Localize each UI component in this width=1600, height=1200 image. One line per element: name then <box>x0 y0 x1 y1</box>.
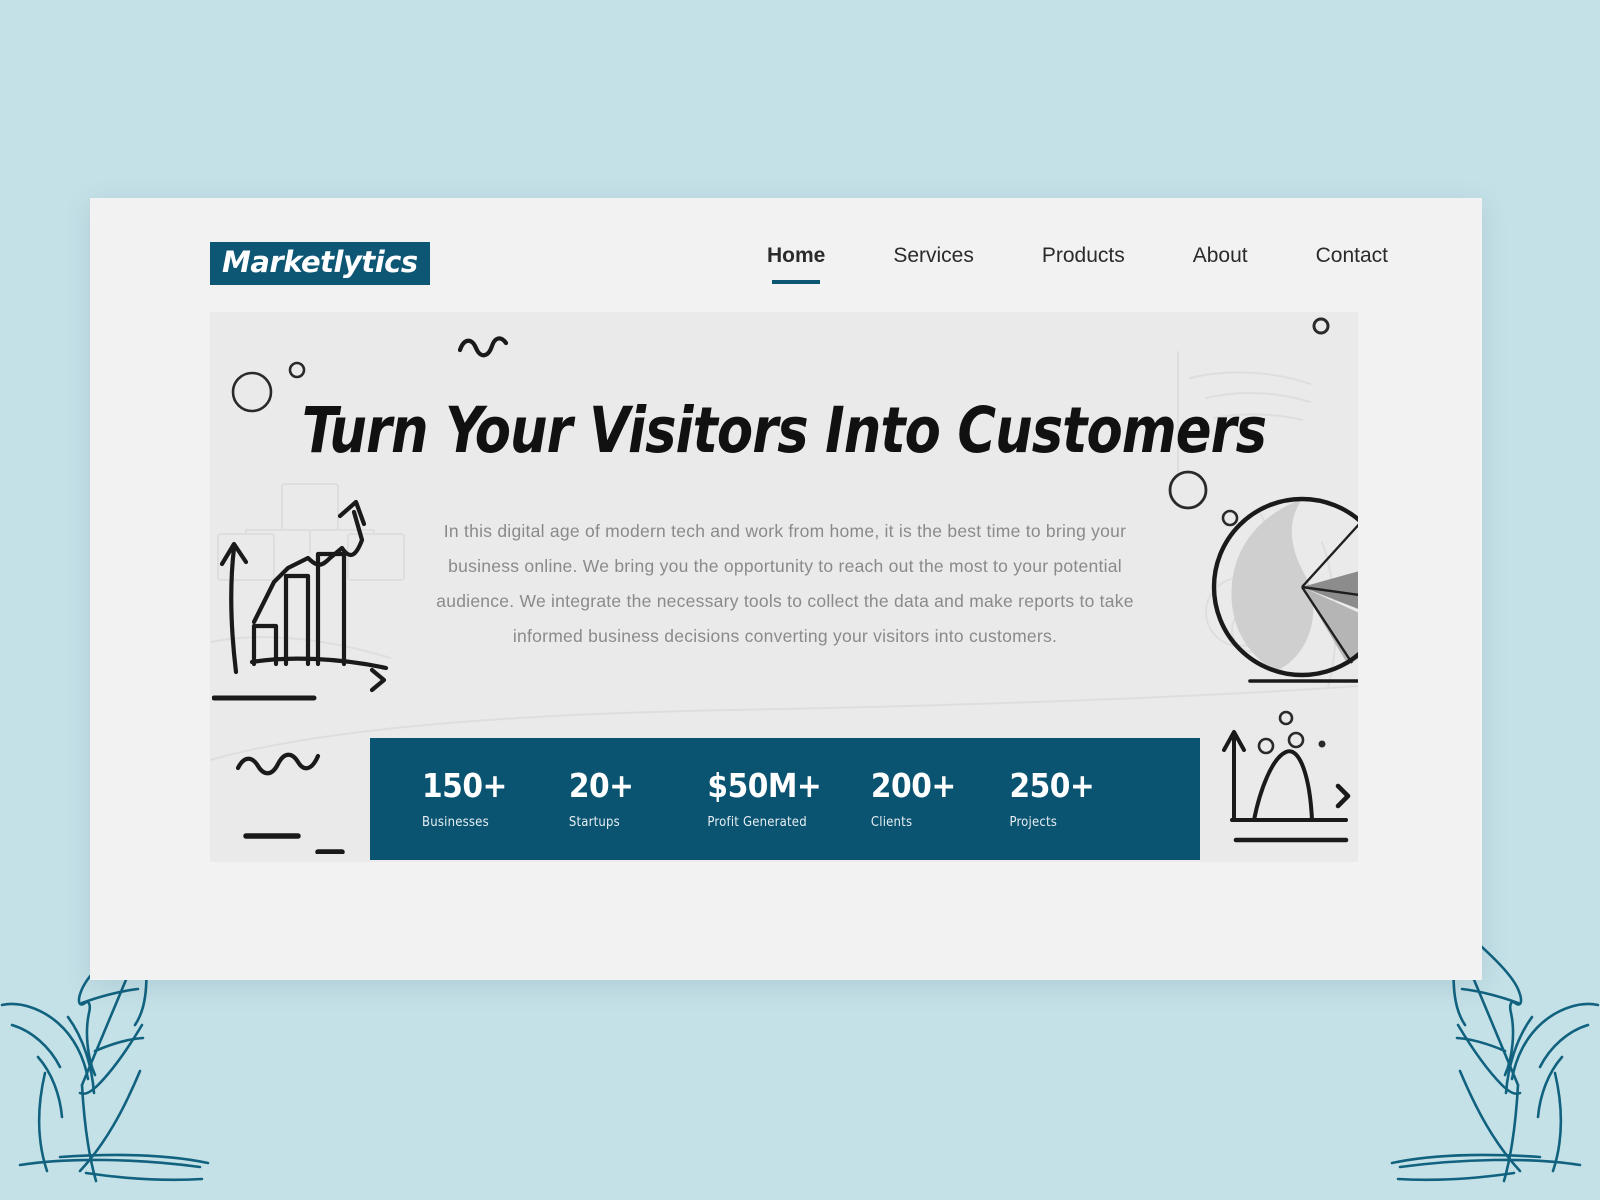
stats-bar: 150+ Businesses 20+ Startups $50M+ Profi… <box>370 738 1200 860</box>
stat-label-startups: Startups <box>569 815 708 830</box>
nav-label-services: Services <box>893 244 974 267</box>
nav-label-products: Products <box>1042 244 1125 267</box>
stat-value-profit-generated: $50M+ <box>707 769 870 802</box>
stat-label-businesses: Businesses <box>422 815 569 830</box>
squiggle-icon <box>232 724 382 854</box>
main-navigation: Home Services Products About Contact <box>733 244 1422 268</box>
nav-label-contact: Contact <box>1316 244 1388 267</box>
nav-item-about[interactable]: About <box>1159 244 1282 268</box>
nav-item-products[interactable]: Products <box>1008 244 1159 268</box>
site-logo[interactable]: Marketlytics <box>210 242 430 285</box>
nav-active-underline <box>772 280 820 284</box>
stat-value-startups: 20+ <box>569 769 708 802</box>
nav-item-home[interactable]: Home <box>733 244 859 268</box>
website-card: Marketlytics Home Services Products Abou… <box>90 198 1482 980</box>
nav-item-services[interactable]: Services <box>859 244 1008 268</box>
stat-label-projects: Projects <box>1009 815 1148 830</box>
stat-clients: 200+ Clients <box>871 769 1010 830</box>
hero-headline: Turn Your Visitors Into Customers <box>250 394 1318 467</box>
stat-value-clients: 200+ <box>871 769 1010 802</box>
pie-chart-icon <box>1202 487 1358 687</box>
stat-value-businesses: 150+ <box>422 769 569 802</box>
stat-value-projects: 250+ <box>1009 769 1148 802</box>
site-header: Marketlytics Home Services Products Abou… <box>90 198 1482 312</box>
stat-label-profit-generated: Profit Generated <box>707 815 870 830</box>
bar-chart-icon <box>212 472 412 702</box>
nav-label-about: About <box>1193 244 1248 267</box>
nav-item-contact[interactable]: Contact <box>1282 244 1422 268</box>
stat-label-clients: Clients <box>871 815 1010 830</box>
stat-profit-generated: $50M+ Profit Generated <box>707 769 870 830</box>
top-squiggle-icon <box>454 324 514 364</box>
stat-businesses: 150+ Businesses <box>422 769 569 830</box>
stat-startups: 20+ Startups <box>569 769 708 830</box>
right-circles-icon <box>1160 462 1270 552</box>
hero-paragraph: In this digital age of modern tech and w… <box>416 514 1154 654</box>
nav-label-home: Home <box>767 244 825 267</box>
stat-projects: 250+ Projects <box>1009 769 1148 830</box>
small-circle-icon <box>1306 314 1336 344</box>
bell-curve-icon <box>1210 708 1358 848</box>
